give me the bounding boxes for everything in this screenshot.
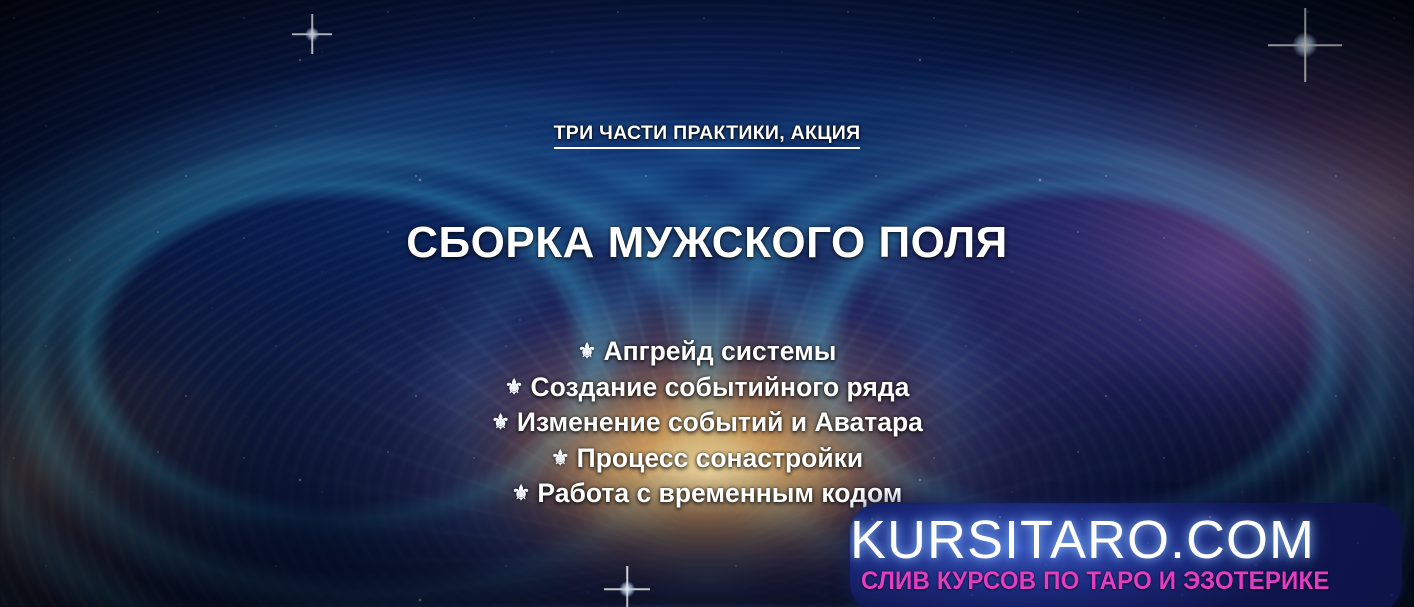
list-item-label: Изменение событий и Аватара	[517, 407, 923, 437]
list-item-label: Работа с временным кодом	[537, 478, 902, 508]
promo-kicker: ТРИ ЧАСТИ ПРАКТИКИ, АКЦИЯ	[0, 122, 1414, 145]
promo-banner: ТРИ ЧАСТИ ПРАКТИКИ, АКЦИЯ СБОРКА МУЖСКОГ…	[0, 0, 1414, 607]
list-item: ⚜Создание событийного ряда	[0, 370, 1414, 406]
list-item-label: Апгрейд системы	[603, 336, 836, 366]
watermark-badge: KURSITARO.COM СЛИВ КУРСОВ ПО ТАРО И ЭЗОТ…	[850, 503, 1402, 607]
watermark-domain: KURSITARO.COM	[850, 509, 1402, 571]
page-title: СБОРКА МУЖСКОГО ПОЛЯ	[0, 218, 1414, 268]
list-item-label: Создание событийного ряда	[530, 372, 909, 402]
fleur-de-lis-icon: ⚜	[551, 441, 570, 477]
promo-kicker-text: ТРИ ЧАСТИ ПРАКТИКИ, АКЦИЯ	[554, 122, 861, 149]
list-item: ⚜Апгрейд системы	[0, 334, 1414, 370]
feature-list: ⚜Апгрейд системы ⚜Создание событийного р…	[0, 334, 1414, 512]
watermark-tagline: СЛИВ КУРСОВ ПО ТАРО И ЭЗОТЕРИКЕ	[861, 567, 1391, 596]
fleur-de-lis-icon: ⚜	[491, 405, 510, 441]
fleur-de-lis-icon: ⚜	[505, 370, 524, 406]
list-item: ⚜Изменение событий и Аватара	[0, 405, 1414, 441]
list-item-label: Процесс сонастройки	[577, 443, 864, 473]
list-item: ⚜Процесс сонастройки	[0, 441, 1414, 477]
fleur-de-lis-icon: ⚜	[512, 476, 531, 512]
fleur-de-lis-icon: ⚜	[578, 334, 597, 370]
